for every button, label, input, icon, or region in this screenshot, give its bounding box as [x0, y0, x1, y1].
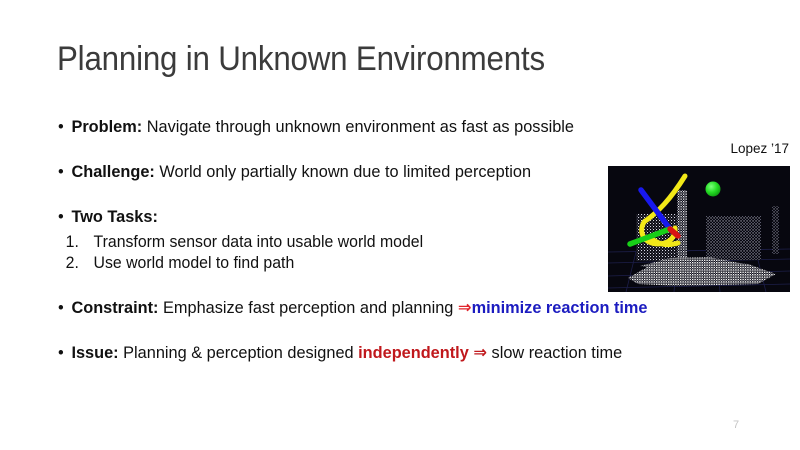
- bullet-text-challenge: World only partially known due to limite…: [155, 162, 531, 181]
- slide-canvas: Planning in Unknown Environments • Probl…: [0, 0, 800, 450]
- figure-credit: Lopez ’17: [730, 141, 789, 156]
- spacer: [58, 183, 618, 206]
- arrow-icon: ⇒: [458, 298, 472, 317]
- point-cloud-figure: [608, 166, 790, 292]
- spacer: [58, 274, 618, 297]
- list-item-label: Transform sensor data into usable world …: [94, 233, 424, 251]
- point-cloud-svg: [608, 166, 790, 292]
- page-title: Planning in Unknown Environments: [57, 40, 545, 79]
- bullet-marker: •: [58, 116, 64, 138]
- bullet-emphasis-constraint: minimize reaction time: [472, 298, 648, 317]
- bullet-item-challenge: • Challenge: World only partially known …: [58, 161, 596, 183]
- point-cloud-streak-right: [772, 206, 779, 254]
- list-item-label: Use world model to find path: [94, 254, 295, 272]
- bullet-label-two-tasks: Two Tasks:: [71, 207, 157, 226]
- bullet-item-two-tasks: • Two Tasks:: [58, 206, 596, 228]
- bullet-tail-issue: slow reaction time: [487, 343, 622, 362]
- list-item: 1. Transform sensor data into usable wor…: [58, 232, 596, 253]
- bullet-text-problem: Navigate through unknown environment as …: [142, 117, 574, 136]
- bullet-marker: •: [58, 206, 64, 228]
- bullet-list: • Problem: Navigate through unknown envi…: [58, 116, 618, 364]
- bullet-emphasis-issue: independently: [358, 343, 469, 362]
- spacer: [58, 319, 618, 342]
- bullet-item-issue: • Issue: Planning & perception designed …: [58, 342, 596, 364]
- spacer: [58, 138, 618, 161]
- bullet-item-constraint: • Constraint: Emphasize fast perception …: [58, 297, 596, 319]
- list-item: 2. Use world model to find path: [58, 253, 596, 274]
- list-item-number: 1.: [66, 232, 79, 253]
- goal-marker-icon: [706, 182, 721, 197]
- bullet-marker: •: [58, 342, 64, 364]
- bullet-label-constraint: Constraint:: [71, 298, 158, 317]
- arrow-icon-glyph: ⇒: [473, 343, 487, 362]
- list-item-number: 2.: [66, 253, 79, 274]
- bullet-item-problem: • Problem: Navigate through unknown envi…: [58, 116, 596, 138]
- bullet-marker: •: [58, 161, 64, 183]
- bullet-label-issue: Issue:: [71, 343, 118, 362]
- point-cloud-pillar: [677, 190, 687, 267]
- bullet-label-problem: Problem:: [71, 117, 142, 136]
- bullet-text-constraint: Emphasize fast perception and planning: [158, 298, 457, 317]
- bullet-text-issue: Planning & perception designed: [119, 343, 359, 362]
- page-number: 7: [733, 419, 739, 431]
- bullet-label-challenge: Challenge:: [71, 162, 154, 181]
- point-cloud-wall-right: [706, 216, 761, 260]
- bullet-marker: •: [58, 297, 64, 319]
